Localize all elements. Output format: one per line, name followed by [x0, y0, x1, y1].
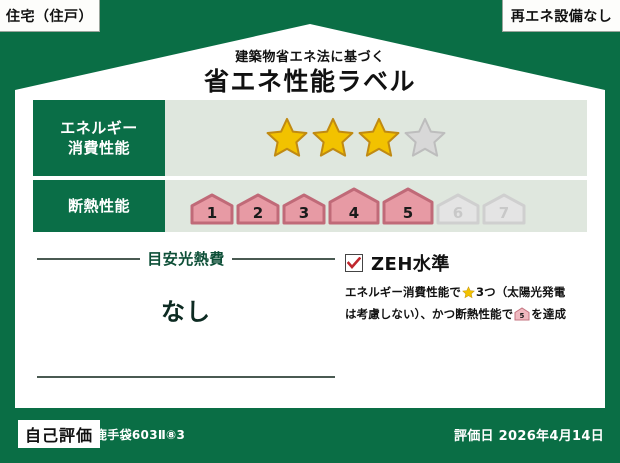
- star-icon-inline: [462, 286, 475, 305]
- house-icon: [382, 187, 434, 225]
- energy-performance-chip-line1: エネルギー: [60, 118, 138, 138]
- page-title: 省エネ性能ラベル: [15, 62, 605, 98]
- insulation-level-scale: 1234567: [165, 187, 526, 225]
- star-icon-filled: [265, 116, 309, 160]
- insulation-level-4: 4: [328, 187, 380, 225]
- insulation-level-7: 7: [482, 193, 526, 225]
- zeh-checkbox[interactable]: [345, 254, 363, 272]
- utility-cost-heading: 目安光熱費: [37, 248, 335, 269]
- zeh-desc-part1: エネルギー消費性能で: [345, 285, 461, 299]
- energy-performance-chip: エネルギー 消費性能: [33, 100, 165, 176]
- building-type-tag-label: 住宅（住戸）: [6, 6, 93, 26]
- energy-performance-label: 住宅（住戸） 再エネ設備なし 建築物省エネ法に基づく 省エネ性能ラベル エネルギ…: [0, 0, 620, 463]
- zeh-description: エネルギー消費性能で3つ（太陽光発電は考慮しない）、かつ断熱性能で5を達成: [345, 283, 591, 326]
- label-card: 建築物省エネ法に基づく 省エネ性能ラベル エネルギー 消費性能 断熱性能: [15, 24, 605, 408]
- energy-performance-chip-line2: 消費性能: [60, 138, 138, 158]
- zeh-title: ZEH水準: [371, 250, 450, 276]
- star-icon-empty: [403, 116, 447, 160]
- house-icon: [328, 187, 380, 225]
- building-type-tag: 住宅（住戸）: [0, 0, 100, 32]
- zeh-desc-part4: を達成: [531, 307, 566, 321]
- zeh-desc-part3: は考慮しない）、かつ断熱性能で: [345, 307, 513, 321]
- renewable-equipment-tag-label: 再エネ設備なし: [511, 6, 613, 26]
- zeh-section: ZEH水準 エネルギー消費性能で3つ（太陽光発電は考慮しない）、かつ断熱性能で5…: [345, 250, 591, 326]
- insulation-level-5: 5: [382, 187, 434, 225]
- utility-cost-value: なし: [37, 292, 335, 327]
- utility-cost-bottom-rule: [37, 376, 335, 378]
- star-icon-filled: [357, 116, 401, 160]
- heading-rule-right: [232, 258, 335, 260]
- house-icon: [236, 193, 280, 225]
- star-rating: [165, 116, 447, 160]
- energy-performance-row: エネルギー 消費性能: [33, 100, 587, 176]
- property-id: 鹿手袋603Ⅱ⑧3: [95, 426, 185, 443]
- svg-text:5: 5: [520, 312, 525, 320]
- zeh-desc-part2: 3つ（太陽光発電: [476, 285, 565, 299]
- insulation-performance-chip: 断熱性能: [33, 180, 165, 232]
- renewable-equipment-tag: 再エネ設備なし: [502, 0, 620, 32]
- evaluation-date: 評価日 2026年4月14日: [454, 425, 604, 444]
- zeh-heading: ZEH水準: [345, 250, 591, 276]
- house-icon: [282, 193, 326, 225]
- check-icon: [347, 257, 361, 269]
- house-icon: [436, 193, 480, 225]
- house-icon: [482, 193, 526, 225]
- heading-rule-left: [37, 258, 140, 260]
- label-footer: 自己評価 鹿手袋603Ⅱ⑧3 評価日 2026年4月14日: [0, 408, 620, 463]
- self-evaluation-badge: 自己評価: [18, 420, 100, 448]
- insulation-level-1: 1: [190, 193, 234, 225]
- star-icon-filled: [311, 116, 355, 160]
- house-icon: [190, 193, 234, 225]
- energy-performance-body: [165, 100, 587, 176]
- house-icon-inline: 5: [514, 307, 530, 327]
- insulation-level-2: 2: [236, 193, 280, 225]
- insulation-level-6: 6: [436, 193, 480, 225]
- insulation-performance-body: 1234567: [165, 180, 587, 232]
- utility-cost-heading-label: 目安光熱費: [147, 248, 225, 269]
- insulation-level-3: 3: [282, 193, 326, 225]
- insulation-performance-row: 断熱性能 1234567: [33, 180, 587, 232]
